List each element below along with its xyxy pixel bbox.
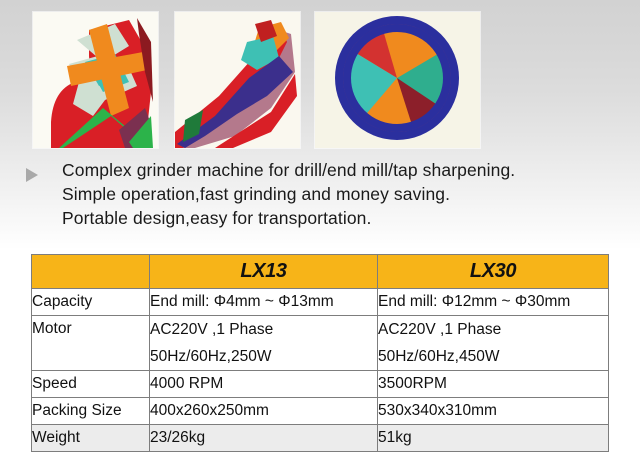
cell-motor-lx13-line-2: 50Hz/60Hz,250W — [150, 343, 377, 370]
description-block: Complex grinder machine for drill/end mi… — [26, 158, 616, 230]
cell-motor-lx30-line-2: 50Hz/60Hz,450W — [378, 343, 608, 370]
description-line-2: Simple operation,fast grinding and money… — [62, 182, 616, 206]
table-header-row: LX13 LX30 — [32, 255, 609, 289]
row-label-motor: Motor — [32, 316, 150, 371]
drill-end-view-photo — [315, 12, 480, 148]
specification-table: LX13 LX30 Capacity End mill: Φ4mm ~ Φ13m… — [31, 254, 609, 452]
description-line-3: Portable design,easy for transportation. — [62, 206, 616, 230]
table-row: Motor AC220V ,1 Phase 50Hz/60Hz,250W AC2… — [32, 316, 609, 371]
cell-speed-lx13: 4000 RPM — [150, 371, 378, 398]
cell-motor-lx30: AC220V ,1 Phase 50Hz/60Hz,450W — [378, 316, 609, 371]
drill-end-view-graphic — [315, 12, 480, 148]
table-row: Capacity End mill: Φ4mm ~ Φ13mm End mill… — [32, 289, 609, 316]
table-row: Speed 4000 RPM 3500RPM — [32, 371, 609, 398]
triangle-right-icon — [26, 168, 38, 182]
header-cell-blank — [32, 255, 150, 289]
drill-tip-closeup-graphic — [33, 12, 158, 148]
cell-motor-lx13: AC220V ,1 Phase 50Hz/60Hz,250W — [150, 316, 378, 371]
product-spec-page: Complex grinder machine for drill/end mi… — [0, 0, 640, 470]
cell-motor-lx30-line-1: AC220V ,1 Phase — [378, 316, 608, 343]
cell-weight-lx30: 51kg — [378, 425, 609, 452]
drill-flute-graphic — [175, 12, 300, 148]
cell-motor-lx13-line-1: AC220V ,1 Phase — [150, 316, 377, 343]
row-label-packing-size: Packing Size — [32, 398, 150, 425]
cell-packing-size-lx13: 400x260x250mm — [150, 398, 378, 425]
table-row: Weight 23/26kg 51kg — [32, 425, 609, 452]
cell-packing-size-lx30: 530x340x310mm — [378, 398, 609, 425]
row-label-speed: Speed — [32, 371, 150, 398]
cell-speed-lx30: 3500RPM — [378, 371, 609, 398]
cell-weight-lx13: 23/26kg — [150, 425, 378, 452]
cell-capacity-lx13: End mill: Φ4mm ~ Φ13mm — [150, 289, 378, 316]
spec-table-body: Capacity End mill: Φ4mm ~ Φ13mm End mill… — [32, 289, 609, 452]
drill-tip-closeup-photo — [33, 12, 158, 148]
drill-flute-photo — [175, 12, 300, 148]
row-label-weight: Weight — [32, 425, 150, 452]
header-cell-model-lx13: LX13 — [150, 255, 378, 289]
header-cell-model-lx30: LX30 — [378, 255, 609, 289]
description-line-1: Complex grinder machine for drill/end mi… — [62, 158, 616, 182]
row-label-capacity: Capacity — [32, 289, 150, 316]
cell-capacity-lx30: End mill: Φ12mm ~ Φ30mm — [378, 289, 609, 316]
description-lines: Complex grinder machine for drill/end mi… — [62, 158, 616, 230]
spec-table-header: LX13 LX30 — [32, 255, 609, 289]
table-row: Packing Size 400x260x250mm 530x340x310mm — [32, 398, 609, 425]
